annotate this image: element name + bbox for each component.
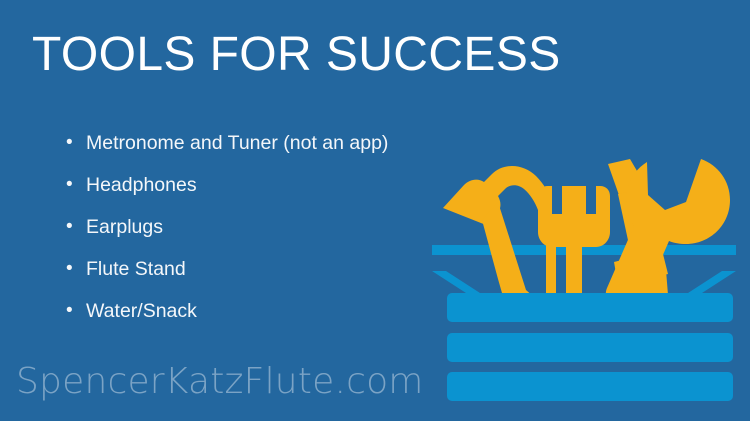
list-item-label: Flute Stand: [86, 258, 186, 280]
crate-slat: [447, 333, 733, 362]
list-item: • Water/Snack: [62, 290, 452, 332]
list-item: • Headphones: [62, 164, 452, 206]
list-item-label: Metronome and Tuner (not an app): [86, 132, 388, 154]
list-item: • Flute Stand: [62, 248, 452, 290]
list-item-label: Headphones: [86, 174, 197, 196]
crate-frame-icon: [432, 245, 736, 293]
bullet-marker-icon: •: [66, 122, 73, 164]
list-item-label: Water/Snack: [86, 300, 197, 322]
crate-slat: [447, 293, 733, 322]
slide-canvas: TOOLS FOR SUCCESS • Metronome and Tuner …: [0, 0, 750, 421]
toolbox-illustration: [418, 140, 750, 421]
page-title: TOOLS FOR SUCCESS: [32, 26, 561, 84]
bullet-list: • Metronome and Tuner (not an app) • Hea…: [62, 122, 452, 332]
list-item: • Metronome and Tuner (not an app): [62, 122, 452, 164]
crate-slat: [447, 372, 733, 401]
list-item-label: Earplugs: [86, 216, 163, 238]
watermark-text: SpencerKatzFlute.com: [16, 360, 424, 404]
bullet-marker-icon: •: [66, 248, 73, 290]
bullet-marker-icon: •: [66, 164, 73, 206]
bullet-marker-icon: •: [66, 206, 73, 248]
crate-slats-icon: [447, 293, 733, 401]
bullet-marker-icon: •: [66, 290, 73, 332]
list-item: • Earplugs: [62, 206, 452, 248]
